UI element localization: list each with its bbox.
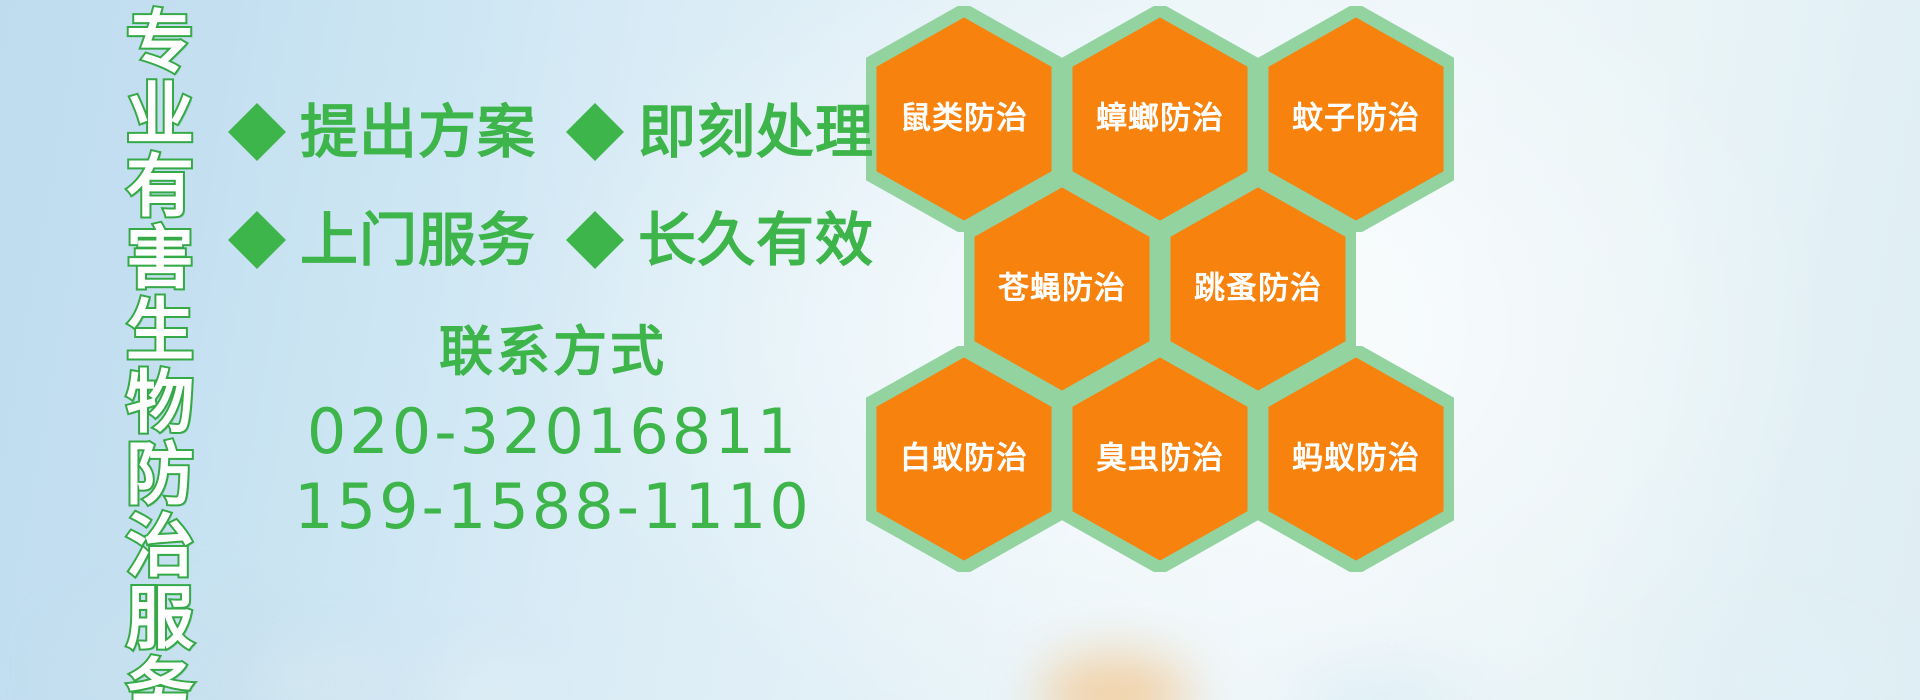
headline-char: 生 [126,296,194,368]
diamond-icon [566,182,624,240]
feature-item: 即刻处理 [566,103,874,161]
feature-label: 长久有效 [638,211,874,269]
headline-char: 害 [126,224,194,296]
headline-char: 服 [126,584,194,656]
feature-row: 提出方案 即刻处理 [228,78,878,186]
pest-control-banner: 专 业 有 害 生 物 防 治 服 务 提出方案 即刻处理 上门服务 [0,0,1920,700]
diamond-icon [228,74,286,132]
feature-label: 上门服务 [300,211,536,269]
headline-char: 业 [126,80,194,152]
service-honeycomb: 鼠类防治 蟑螂防治 蚊子防治 苍蝇防治 跳蚤防治 [858,0,1458,560]
background-bokeh [1680,620,1880,700]
diamond-icon [228,182,286,240]
feature-label: 即刻处理 [638,103,874,161]
feature-list: 提出方案 即刻处理 上门服务 长久有效 [228,78,878,294]
diamond-icon [566,74,624,132]
hex-cell-ant[interactable]: 蚂蚁防治 [1258,346,1454,572]
headline-char: 治 [126,512,194,584]
background-bokeh [250,640,410,700]
feature-row: 上门服务 长久有效 [228,186,878,294]
contact-block: 联系方式 020-32016811 159-1588-1110 [228,318,878,545]
hexagon-shape [1062,346,1258,572]
feature-label: 提出方案 [300,103,536,161]
phone-mobile[interactable]: 159-1588-1110 [228,469,878,545]
hexagon-shape [1258,346,1454,572]
phone-landline[interactable]: 020-32016811 [228,394,878,470]
background-bokeh [1290,665,1470,700]
hex-cell-termite[interactable]: 白蚁防治 [866,346,1062,572]
background-bokeh [430,660,550,700]
vertical-headline: 专 业 有 害 生 物 防 治 服 务 [112,8,208,668]
feature-item: 长久有效 [566,211,874,269]
background-bokeh [1040,655,1190,700]
headline-char: 专 [126,8,194,80]
headline-char: 物 [126,368,194,440]
hexagon-shape [866,346,1062,572]
headline-char: 防 [126,440,194,512]
headline-char: 务 [126,656,194,700]
hex-cell-bedbug[interactable]: 臭虫防治 [1062,346,1258,572]
feature-item: 提出方案 [228,103,536,161]
feature-item: 上门服务 [228,211,536,269]
headline-char: 有 [126,152,194,224]
contact-title: 联系方式 [228,318,878,386]
